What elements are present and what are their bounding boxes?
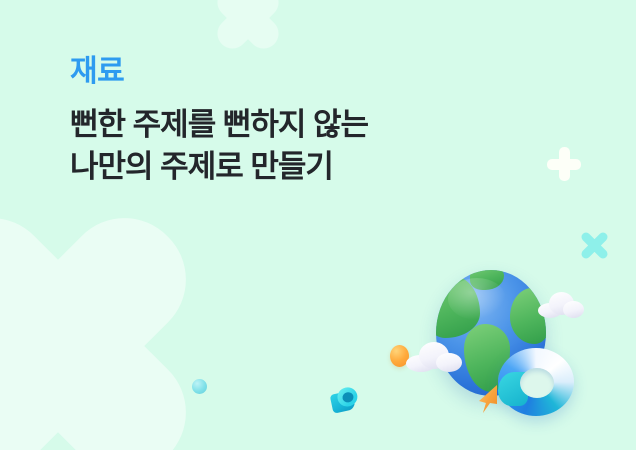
cloud-icon-left [406, 342, 462, 372]
cyan-dot-icon [192, 379, 207, 394]
promo-card: 재료 뻔한 주제를 뻔하지 않는 나만의 주제로 만들기 [0, 0, 636, 450]
eyebrow-label: 재료 [70, 52, 540, 92]
cloud-icon-right [538, 292, 584, 318]
text-block: 재료 뻔한 주제를 뻔하지 않는 나만의 주제로 만들기 [70, 52, 540, 188]
torus-ring-icon [498, 348, 574, 416]
large-x-shape-icon [0, 196, 208, 450]
cyan-cylinder-icon [329, 384, 362, 415]
top-x-shape-icon [212, 0, 284, 54]
plus-shape-icon [547, 147, 581, 181]
globe-illustration [398, 256, 636, 450]
orange-arrow-icon [466, 380, 506, 420]
page-title: 뻔한 주제를 뻔하지 않는 나만의 주제로 만들기 [70, 104, 540, 188]
